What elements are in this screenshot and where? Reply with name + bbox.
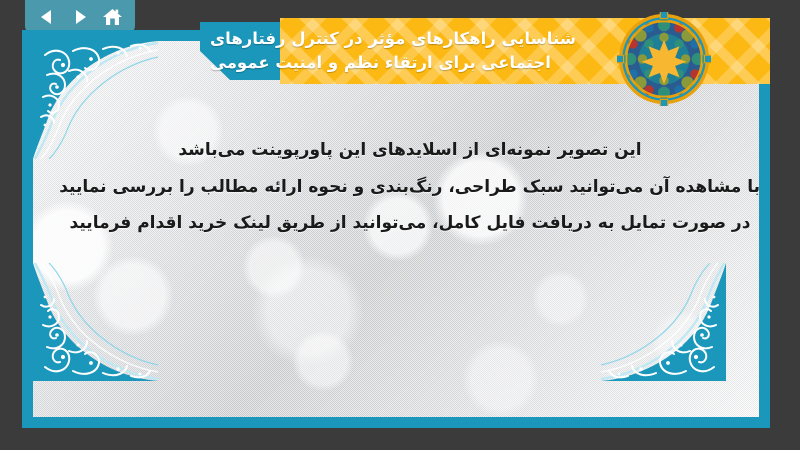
forward-button[interactable] (67, 5, 93, 29)
home-button[interactable] (100, 5, 126, 29)
slide-canvas: این تصویر نمونه‌ای از اسلایدهای این پاور… (0, 0, 800, 450)
persian-rosette-ornament (617, 12, 711, 106)
bokeh-circle (253, 256, 363, 366)
body-line-3: در صورت تمایل به دریافت فایل کامل، می‌تو… (60, 205, 760, 242)
bokeh-circle (653, 311, 713, 371)
title-line-2: اجتماعی برای ارتقاء نظم و امنیت عمومی (210, 51, 551, 75)
back-button[interactable] (34, 5, 60, 29)
bokeh-circle (463, 341, 538, 416)
navigation-bar (25, 0, 135, 33)
title-line-1: شناسایی راهکارهای مؤثر در کنترل رفتارهای (210, 27, 576, 51)
bokeh-circle (533, 271, 588, 326)
bokeh-circle (93, 256, 173, 336)
triangle-right-icon (70, 7, 90, 27)
body-line-2: با مشاهده آن می‌توانید سبک طراحی، رنگ‌بن… (60, 169, 760, 206)
bokeh-circle (293, 331, 353, 391)
title-banner: شناسایی راهکارهای مؤثر در کنترل رفتارهای… (200, 18, 800, 84)
triangle-left-icon (37, 7, 57, 27)
home-icon (102, 7, 123, 27)
bokeh-circle (243, 236, 305, 298)
body-line-1: این تصویر نمونه‌ای از اسلایدهای این پاور… (60, 132, 760, 169)
slide-body-text: این تصویر نمونه‌ای از اسلایدهای این پاور… (60, 132, 760, 242)
